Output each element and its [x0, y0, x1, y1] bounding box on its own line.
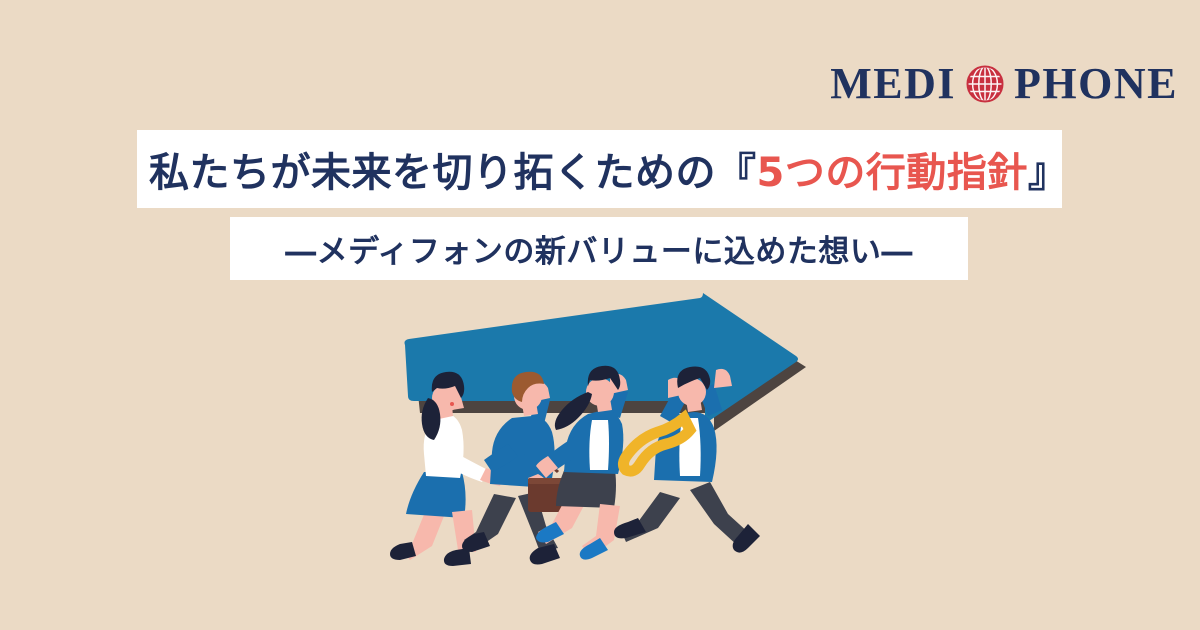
person-4-man-yellow-tie [614, 367, 760, 553]
title-bracket-close: 』 [1028, 150, 1069, 196]
person-3-woman-blue-blazer [536, 366, 628, 560]
globe-icon [966, 65, 1004, 103]
poster-canvas: MEDI PHONE 私たちが未来を切り拓くための『5つの行動指針』 ―メディフ… [0, 0, 1200, 630]
logo-text-medi: MEDI [830, 62, 956, 106]
person-2-man-blue-sweater [462, 372, 572, 565]
title-lead: 私たちが未来を切り拓くための [149, 150, 716, 196]
title-highlight: 5つの行動指針 [757, 150, 1028, 196]
subtitle-band: ―メディフォンの新バリューに込めた想い― [230, 217, 968, 280]
arrow-shadow [414, 304, 806, 431]
logo-text-phone: PHONE [1014, 62, 1178, 106]
growth-arrow [405, 293, 799, 422]
title-band: 私たちが未来を切り拓くための『5つの行動指針』 [137, 130, 1062, 208]
person-1-woman-white-blouse [390, 372, 504, 566]
brand-logo[interactable]: MEDI PHONE [830, 62, 1178, 106]
page-subtitle: ―メディフォンの新バリューに込めた想い― [285, 226, 913, 271]
page-title: 私たちが未来を切り拓くための『5つの行動指針』 [149, 140, 1068, 198]
title-bracket-open: 『 [716, 150, 757, 196]
